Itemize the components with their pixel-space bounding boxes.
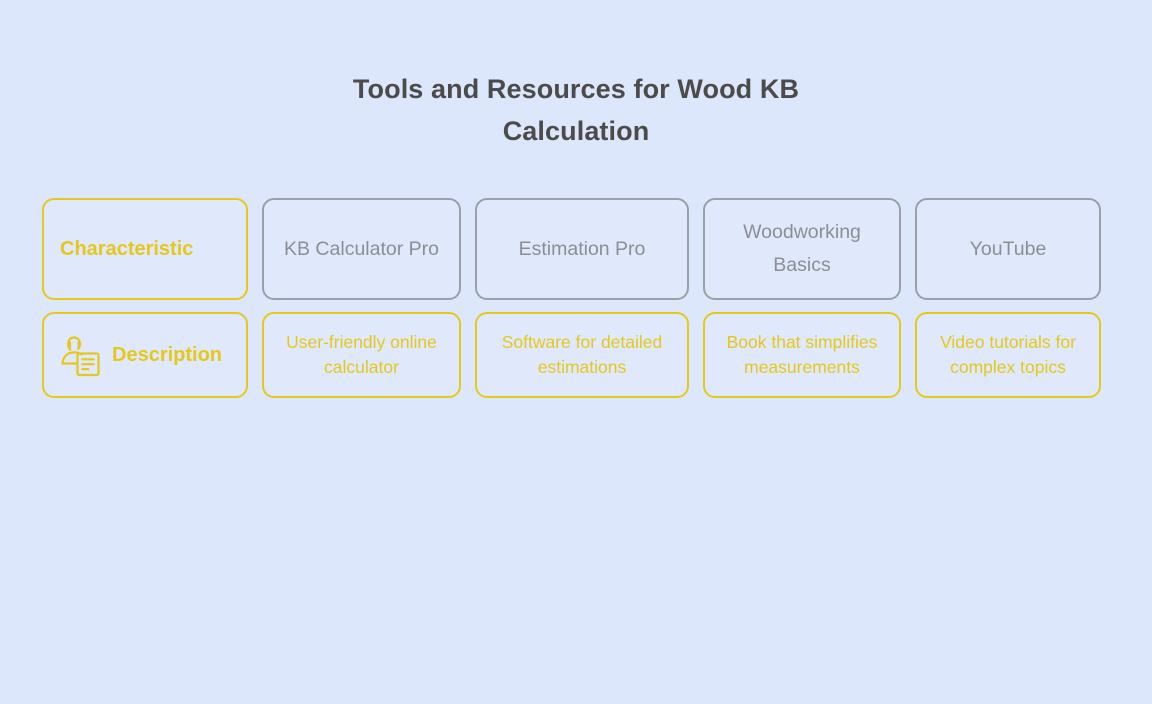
page-title: Tools and Resources for Wood KB Calculat… — [276, 68, 876, 152]
row-label-characteristic-text: Characteristic — [60, 233, 193, 266]
description-cell-tool-2[interactable]: Software for detailed estimations — [475, 312, 689, 398]
header-cell-tool-4-text: YouTube — [970, 233, 1047, 266]
matrix-header-row: Characteristic KB Calculator Pro Estimat… — [42, 198, 1101, 300]
header-cell-tool-2[interactable]: Estimation Pro — [475, 198, 689, 300]
header-cell-tool-4[interactable]: YouTube — [915, 198, 1101, 300]
matrix-description-row: Description User-friendly online calcula… — [42, 312, 1101, 398]
description-cell-tool-3-text: Book that simplifies measurements — [717, 330, 887, 380]
user-document-icon — [60, 333, 102, 377]
description-cell-tool-3[interactable]: Book that simplifies measurements — [703, 312, 901, 398]
header-cell-tool-1-text: KB Calculator Pro — [284, 233, 439, 266]
row-label-description[interactable]: Description — [42, 312, 248, 398]
description-cell-tool-2-text: Software for detailed estimations — [489, 330, 675, 380]
header-cell-tool-3-text: Woodworking Basics — [717, 216, 887, 282]
description-cell-tool-1-text: User-friendly online calculator — [276, 330, 447, 380]
comparison-matrix: Characteristic KB Calculator Pro Estimat… — [42, 198, 1101, 398]
header-cell-tool-3[interactable]: Woodworking Basics — [703, 198, 901, 300]
description-cell-tool-4-text: Video tutorials for complex topics — [929, 330, 1087, 380]
description-cell-tool-1[interactable]: User-friendly online calculator — [262, 312, 461, 398]
row-label-characteristic[interactable]: Characteristic — [42, 198, 248, 300]
header-cell-tool-2-text: Estimation Pro — [519, 233, 646, 266]
header-cell-tool-1[interactable]: KB Calculator Pro — [262, 198, 461, 300]
description-cell-tool-4[interactable]: Video tutorials for complex topics — [915, 312, 1101, 398]
row-label-description-text: Description — [112, 339, 222, 372]
